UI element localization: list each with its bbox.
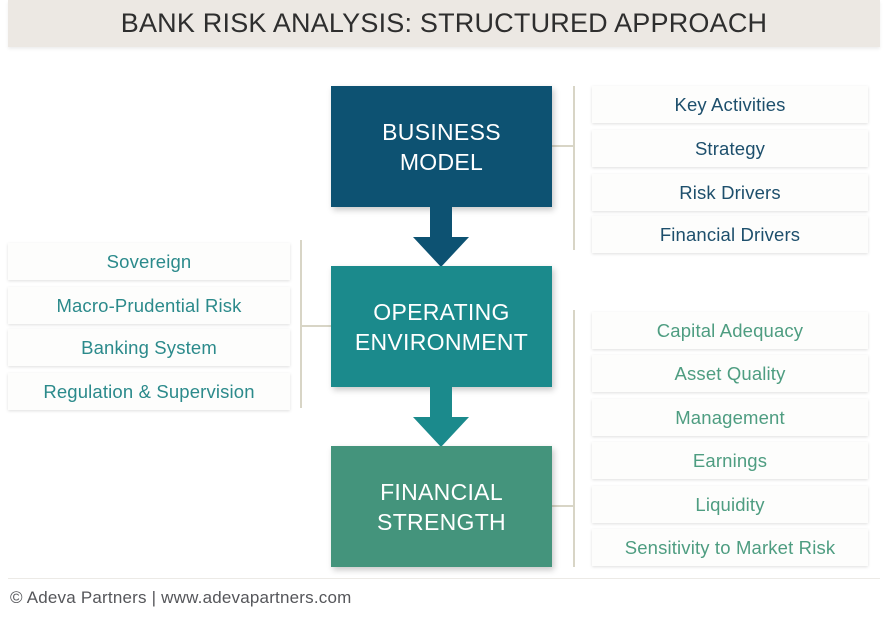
pill-management[interactable]: Management — [592, 399, 868, 436]
box-business-model-line1: BUSINESS — [382, 117, 501, 147]
bracket-financial-strength-stub — [552, 505, 575, 507]
box-business-model-line2: MODEL — [382, 147, 501, 177]
box-operating-environment[interactable]: OPERATING ENVIRONMENT — [331, 266, 552, 387]
pill-regulation-supervision[interactable]: Regulation & Supervision — [8, 373, 290, 410]
footer-divider — [8, 578, 880, 579]
box-operating-environment-line1: OPERATING — [355, 297, 528, 327]
bracket-financial-strength-vertical — [573, 310, 575, 567]
pill-sovereign[interactable]: Sovereign — [8, 243, 290, 280]
box-business-model-label: BUSINESS MODEL — [382, 117, 501, 177]
footer-credit: © Adeva Partners | www.adevapartners.com — [10, 588, 351, 608]
box-business-model[interactable]: BUSINESS MODEL — [331, 86, 552, 207]
bracket-operating-environment-vertical — [300, 240, 302, 408]
pill-earnings[interactable]: Earnings — [592, 442, 868, 479]
pill-key-activities[interactable]: Key Activities — [592, 86, 868, 123]
pill-liquidity[interactable]: Liquidity — [592, 486, 868, 523]
box-financial-strength[interactable]: FINANCIAL STRENGTH — [331, 446, 552, 567]
diagram-canvas: BANK RISK ANALYSIS: STRUCTURED APPROACH … — [0, 0, 888, 620]
bracket-operating-environment-stub — [300, 325, 333, 327]
pill-strategy[interactable]: Strategy — [592, 130, 868, 167]
title-bar: BANK RISK ANALYSIS: STRUCTURED APPROACH — [8, 0, 880, 47]
box-financial-strength-line1: FINANCIAL — [377, 477, 506, 507]
pill-sensitivity-to-market-risk[interactable]: Sensitivity to Market Risk — [592, 529, 868, 566]
pill-banking-system[interactable]: Banking System — [8, 329, 290, 366]
page-title: BANK RISK ANALYSIS: STRUCTURED APPROACH — [8, 0, 880, 47]
box-financial-strength-label: FINANCIAL STRENGTH — [377, 477, 506, 537]
arrow-business-to-operating-icon — [413, 205, 469, 267]
box-financial-strength-line2: STRENGTH — [377, 507, 506, 537]
bracket-business-model-vertical — [573, 86, 575, 250]
arrow-operating-to-financial-icon — [413, 385, 469, 447]
box-operating-environment-label: OPERATING ENVIRONMENT — [355, 297, 528, 357]
pill-financial-drivers[interactable]: Financial Drivers — [592, 216, 868, 253]
bracket-business-model-stub — [552, 145, 575, 147]
pill-macro-prudential-risk[interactable]: Macro-Prudential Risk — [8, 287, 290, 324]
pill-risk-drivers[interactable]: Risk Drivers — [592, 174, 868, 211]
pill-capital-adequacy[interactable]: Capital Adequacy — [592, 312, 868, 349]
box-operating-environment-line2: ENVIRONMENT — [355, 327, 528, 357]
pill-asset-quality[interactable]: Asset Quality — [592, 355, 868, 392]
